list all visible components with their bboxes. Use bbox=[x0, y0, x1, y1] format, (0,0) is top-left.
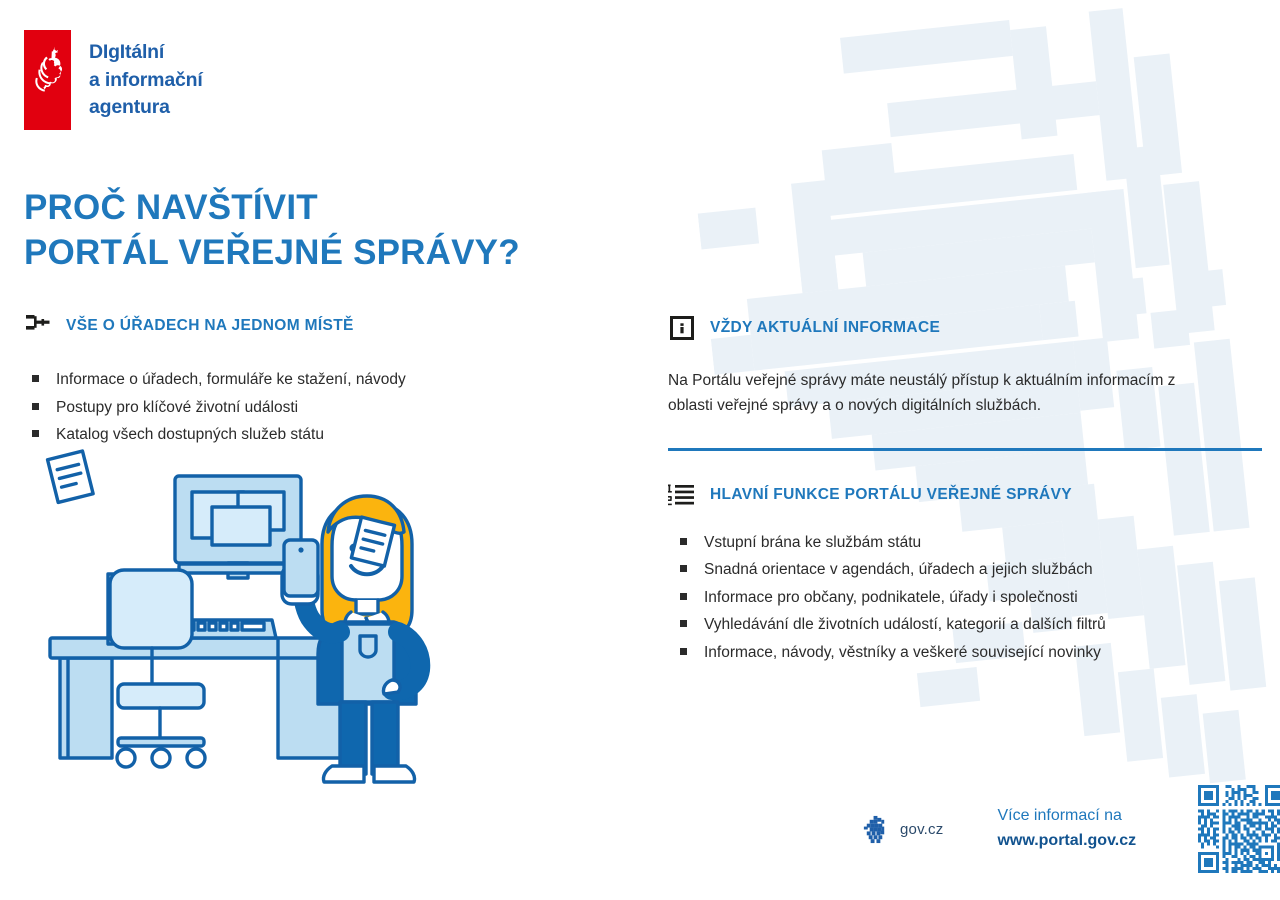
list-item-label: Katalog všech dostupných služeb státu bbox=[56, 423, 324, 447]
bullet-square-icon bbox=[680, 538, 687, 545]
section-uptodate-title: VŽDY AKTUÁLNÍ INFORMACE bbox=[710, 319, 940, 337]
logo-wordmark: DIgItální a informační agentura bbox=[89, 30, 203, 130]
section-functions-title: HLAVNÍ FUNKCE PORTÁLU VEŘEJNÉ SPRÁVY bbox=[710, 486, 1072, 504]
section-functions-list: Vstupní brána ke službám státu Snadná or… bbox=[680, 531, 1268, 665]
section-offices: VŠE O ÚŘADECH NA JEDNOM MÍSTĚ Informace … bbox=[24, 312, 624, 451]
poster-canvas: DIgItální a informační agentura PROČ NAV… bbox=[0, 0, 1280, 900]
right-column: VŽDY AKTUÁLNÍ INFORMACE Na Portálu veřej… bbox=[668, 314, 1268, 668]
section-offices-title: VŠE O ÚŘADECH NA JEDNOM MÍSTĚ bbox=[66, 317, 354, 335]
list-item: Snadná orientace v agendách, úřadech a j… bbox=[680, 558, 1268, 582]
desk-top bbox=[50, 638, 361, 658]
footer: gov.cz Více informací na www.portal.gov.… bbox=[860, 785, 1280, 873]
logo-line-1: DIgItální bbox=[89, 39, 203, 67]
more-info-block: Více informací na www.portal.gov.cz bbox=[997, 804, 1136, 854]
govcz-logo[interactable]: gov.cz bbox=[860, 814, 943, 845]
czech-lion-icon bbox=[860, 814, 891, 845]
logo-red-bar bbox=[24, 30, 71, 130]
govcz-label: gov.cz bbox=[900, 821, 943, 838]
office-desk-and-woman-with-phone-illustration bbox=[40, 440, 600, 800]
section-uptodate-paragraph: Na Portálu veřejné správy máte neustálý … bbox=[668, 368, 1208, 418]
office-chair bbox=[108, 570, 205, 767]
portal-url-link[interactable]: www.portal.gov.cz bbox=[997, 829, 1136, 854]
section-functions: HLAVNÍ FUNKCE PORTÁLU VEŘEJNÉ SPRÁVY Vst… bbox=[668, 481, 1268, 665]
section-offices-list: Informace o úřadech, formuláře ke stažen… bbox=[32, 368, 624, 447]
logo-line-3: agentura bbox=[89, 94, 203, 122]
section-divider bbox=[668, 448, 1262, 451]
page-title-line-1: PROČ NAVŠTÍVIT bbox=[24, 186, 520, 231]
list-item: Informace o úřadech, formuláře ke stažen… bbox=[32, 368, 624, 392]
desk-left-panel bbox=[60, 658, 112, 758]
more-info-label: Více informací na bbox=[997, 804, 1136, 829]
bullet-square-icon bbox=[680, 648, 687, 655]
list-item: Informace, návody, věstníky a veškeré so… bbox=[680, 641, 1268, 665]
sitemap-icon bbox=[24, 312, 52, 340]
list-item-label: Snadná orientace v agendách, úřadech a j… bbox=[704, 558, 1093, 582]
section-uptodate-header: VŽDY AKTUÁLNÍ INFORMACE bbox=[668, 314, 1268, 342]
logo-line-2: a informační bbox=[89, 67, 203, 95]
numbered-list-icon bbox=[668, 481, 696, 509]
list-item: Informace pro občany, podnikatele, úřady… bbox=[680, 586, 1268, 610]
list-item: Vyhledávání dle životních událostí, kate… bbox=[680, 613, 1268, 637]
info-square-icon bbox=[668, 314, 696, 342]
qr-code-icon[interactable] bbox=[1198, 785, 1280, 873]
list-item-label: Postupy pro klíčové životní události bbox=[56, 396, 298, 420]
list-item: Katalog všech dostupných služeb státu bbox=[32, 423, 624, 447]
floating-document-1 bbox=[48, 451, 94, 502]
bullet-square-icon bbox=[32, 375, 39, 382]
bullet-square-icon bbox=[32, 403, 39, 410]
page-title: PROČ NAVŠTÍVIT PORTÁL VEŘEJNÉ SPRÁVY? bbox=[24, 186, 520, 276]
list-item-label: Informace pro občany, podnikatele, úřady… bbox=[704, 586, 1078, 610]
section-offices-header: VŠE O ÚŘADECH NA JEDNOM MÍSTĚ bbox=[24, 312, 624, 340]
list-item-label: Vstupní brána ke službám státu bbox=[704, 531, 921, 555]
list-item: Postupy pro klíčové životní události bbox=[32, 396, 624, 420]
dia-logo: DIgItální a informační agentura bbox=[24, 30, 203, 130]
czech-lion-icon bbox=[31, 44, 64, 92]
bullet-square-icon bbox=[680, 620, 687, 627]
list-item-label: Informace o úřadech, formuláře ke stažen… bbox=[56, 368, 406, 392]
list-item-label: Vyhledávání dle životních událostí, kate… bbox=[704, 613, 1106, 637]
bullet-square-icon bbox=[680, 565, 687, 572]
list-item: Vstupní brána ke službám státu bbox=[680, 531, 1268, 555]
list-item-label: Informace, návody, věstníky a veškeré so… bbox=[704, 641, 1101, 665]
bullet-square-icon bbox=[680, 593, 687, 600]
section-functions-header: HLAVNÍ FUNKCE PORTÁLU VEŘEJNÉ SPRÁVY bbox=[668, 481, 1268, 509]
page-title-line-2: PORTÁL VEŘEJNÉ SPRÁVY? bbox=[24, 231, 520, 276]
bullet-square-icon bbox=[32, 430, 39, 437]
